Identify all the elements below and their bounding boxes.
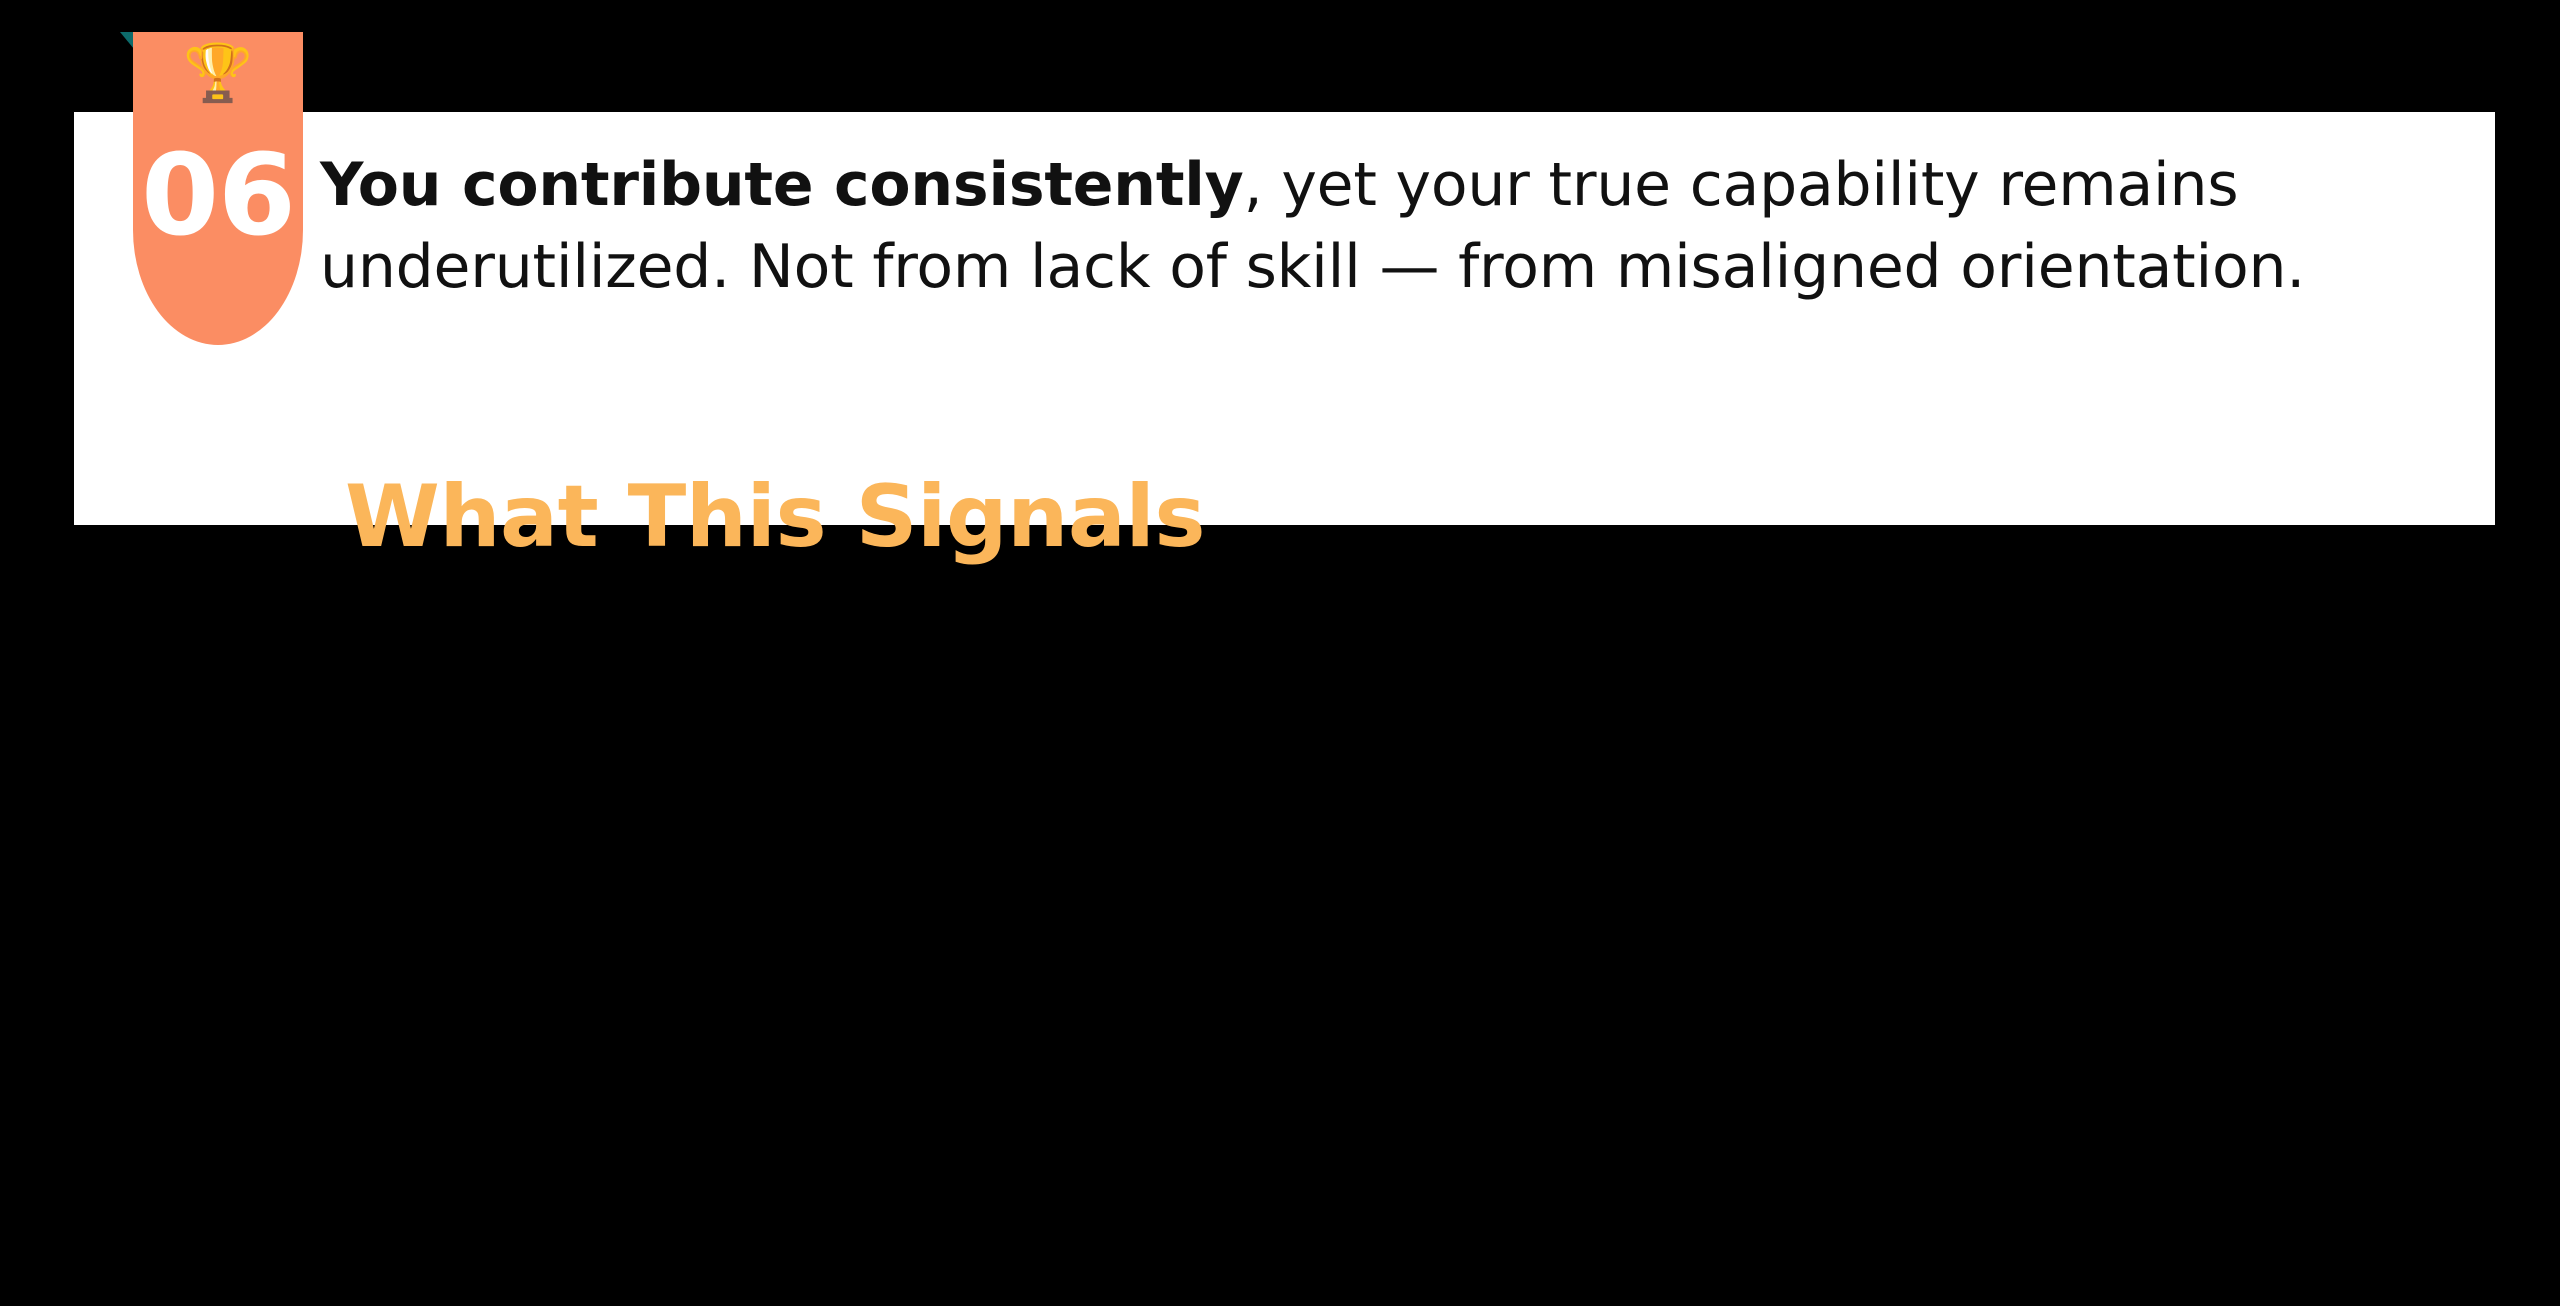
slide-canvas: You contribute consistently, yet your tr… [0,0,2560,1306]
badge-number-label: 06 [133,140,303,252]
trophy-icon: 🏆 [133,46,303,102]
step-number-badge: 🏆 06 [133,32,303,345]
quote-paragraph: You contribute consistently, yet your tr… [320,144,2430,308]
headline-container: What This Signals [0,470,1550,565]
quote-card: You contribute consistently, yet your tr… [74,112,2495,525]
quote-lead-phrase: You contribute consistently [320,150,1244,220]
headline-text: What This Signals [345,470,1205,565]
